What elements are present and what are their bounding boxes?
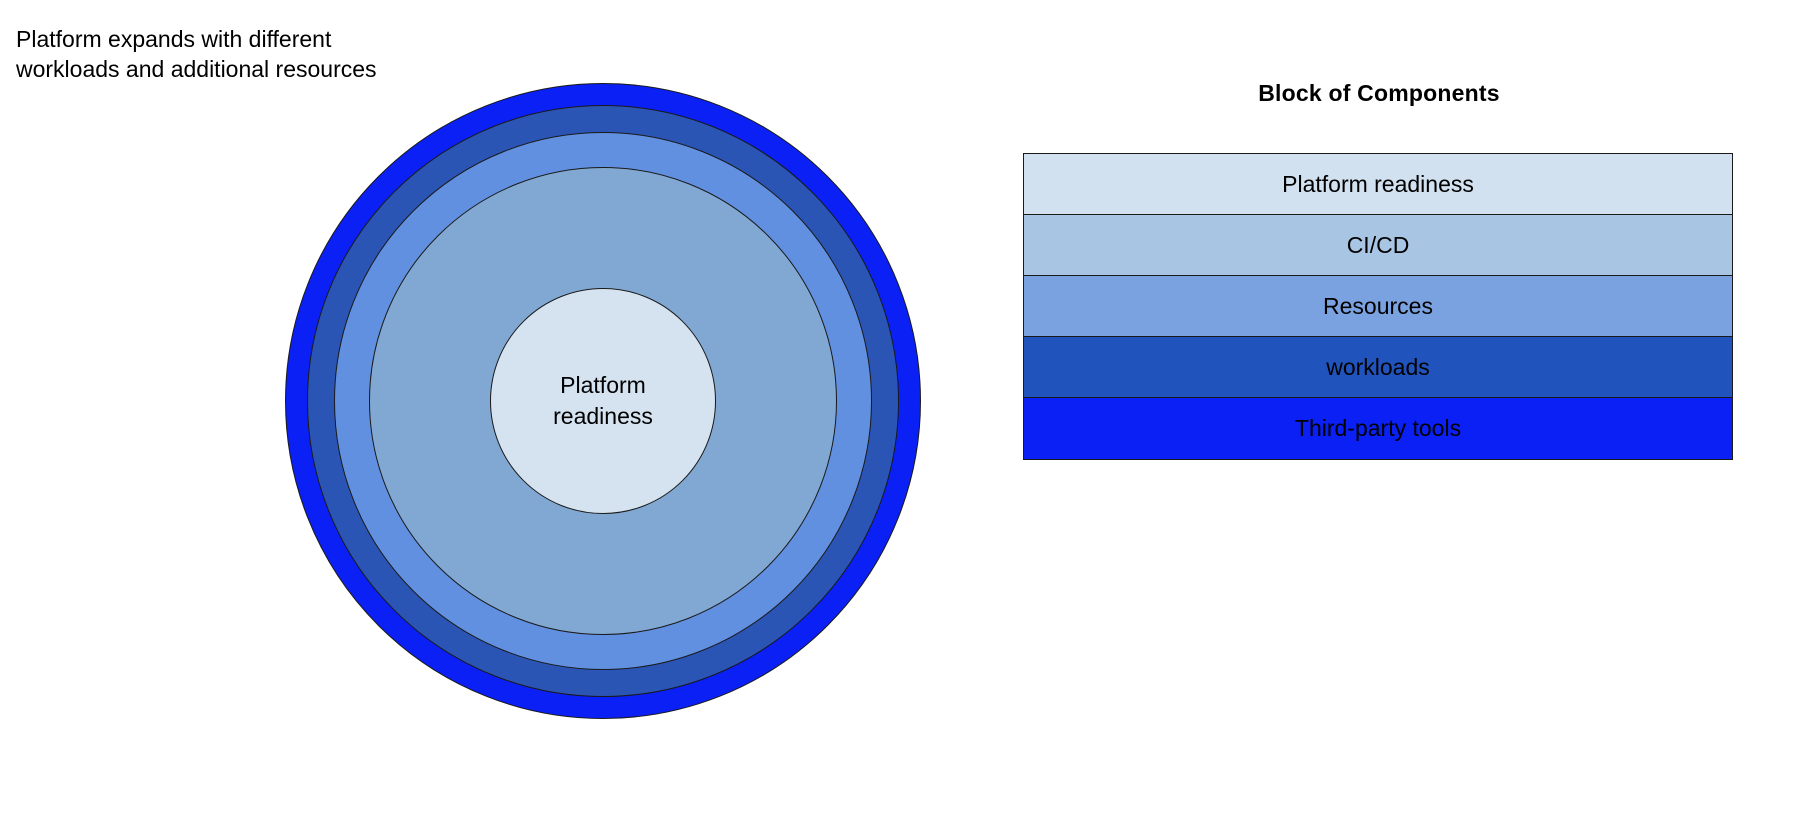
block-row-platform-readiness[interactable]: Platform readiness: [1024, 154, 1732, 215]
block-row-label: Platform readiness: [1282, 171, 1474, 197]
block-row-ci-cd[interactable]: CI/CD: [1024, 215, 1732, 276]
concentric-rings-diagram: Platform readiness: [280, 78, 926, 724]
block-row-workloads[interactable]: workloads: [1024, 337, 1732, 398]
block-row-third-party-tools[interactable]: Third-party tools: [1024, 398, 1732, 459]
block-of-components-panel: Block of Components Platform readiness C…: [1023, 80, 1735, 460]
ring-platform-readiness[interactable]: [490, 288, 716, 514]
block-row-label: workloads: [1326, 354, 1430, 380]
block-row-label: Third-party tools: [1295, 415, 1461, 441]
block-row-label: CI/CD: [1347, 232, 1410, 258]
block-of-components-title: Block of Components: [1023, 80, 1735, 107]
block-row-label: Resources: [1323, 293, 1433, 319]
block-rows-list: Platform readiness CI/CD Resources workl…: [1023, 153, 1733, 460]
block-row-resources[interactable]: Resources: [1024, 276, 1732, 337]
diagram-caption: Platform expands with different workload…: [16, 24, 377, 84]
